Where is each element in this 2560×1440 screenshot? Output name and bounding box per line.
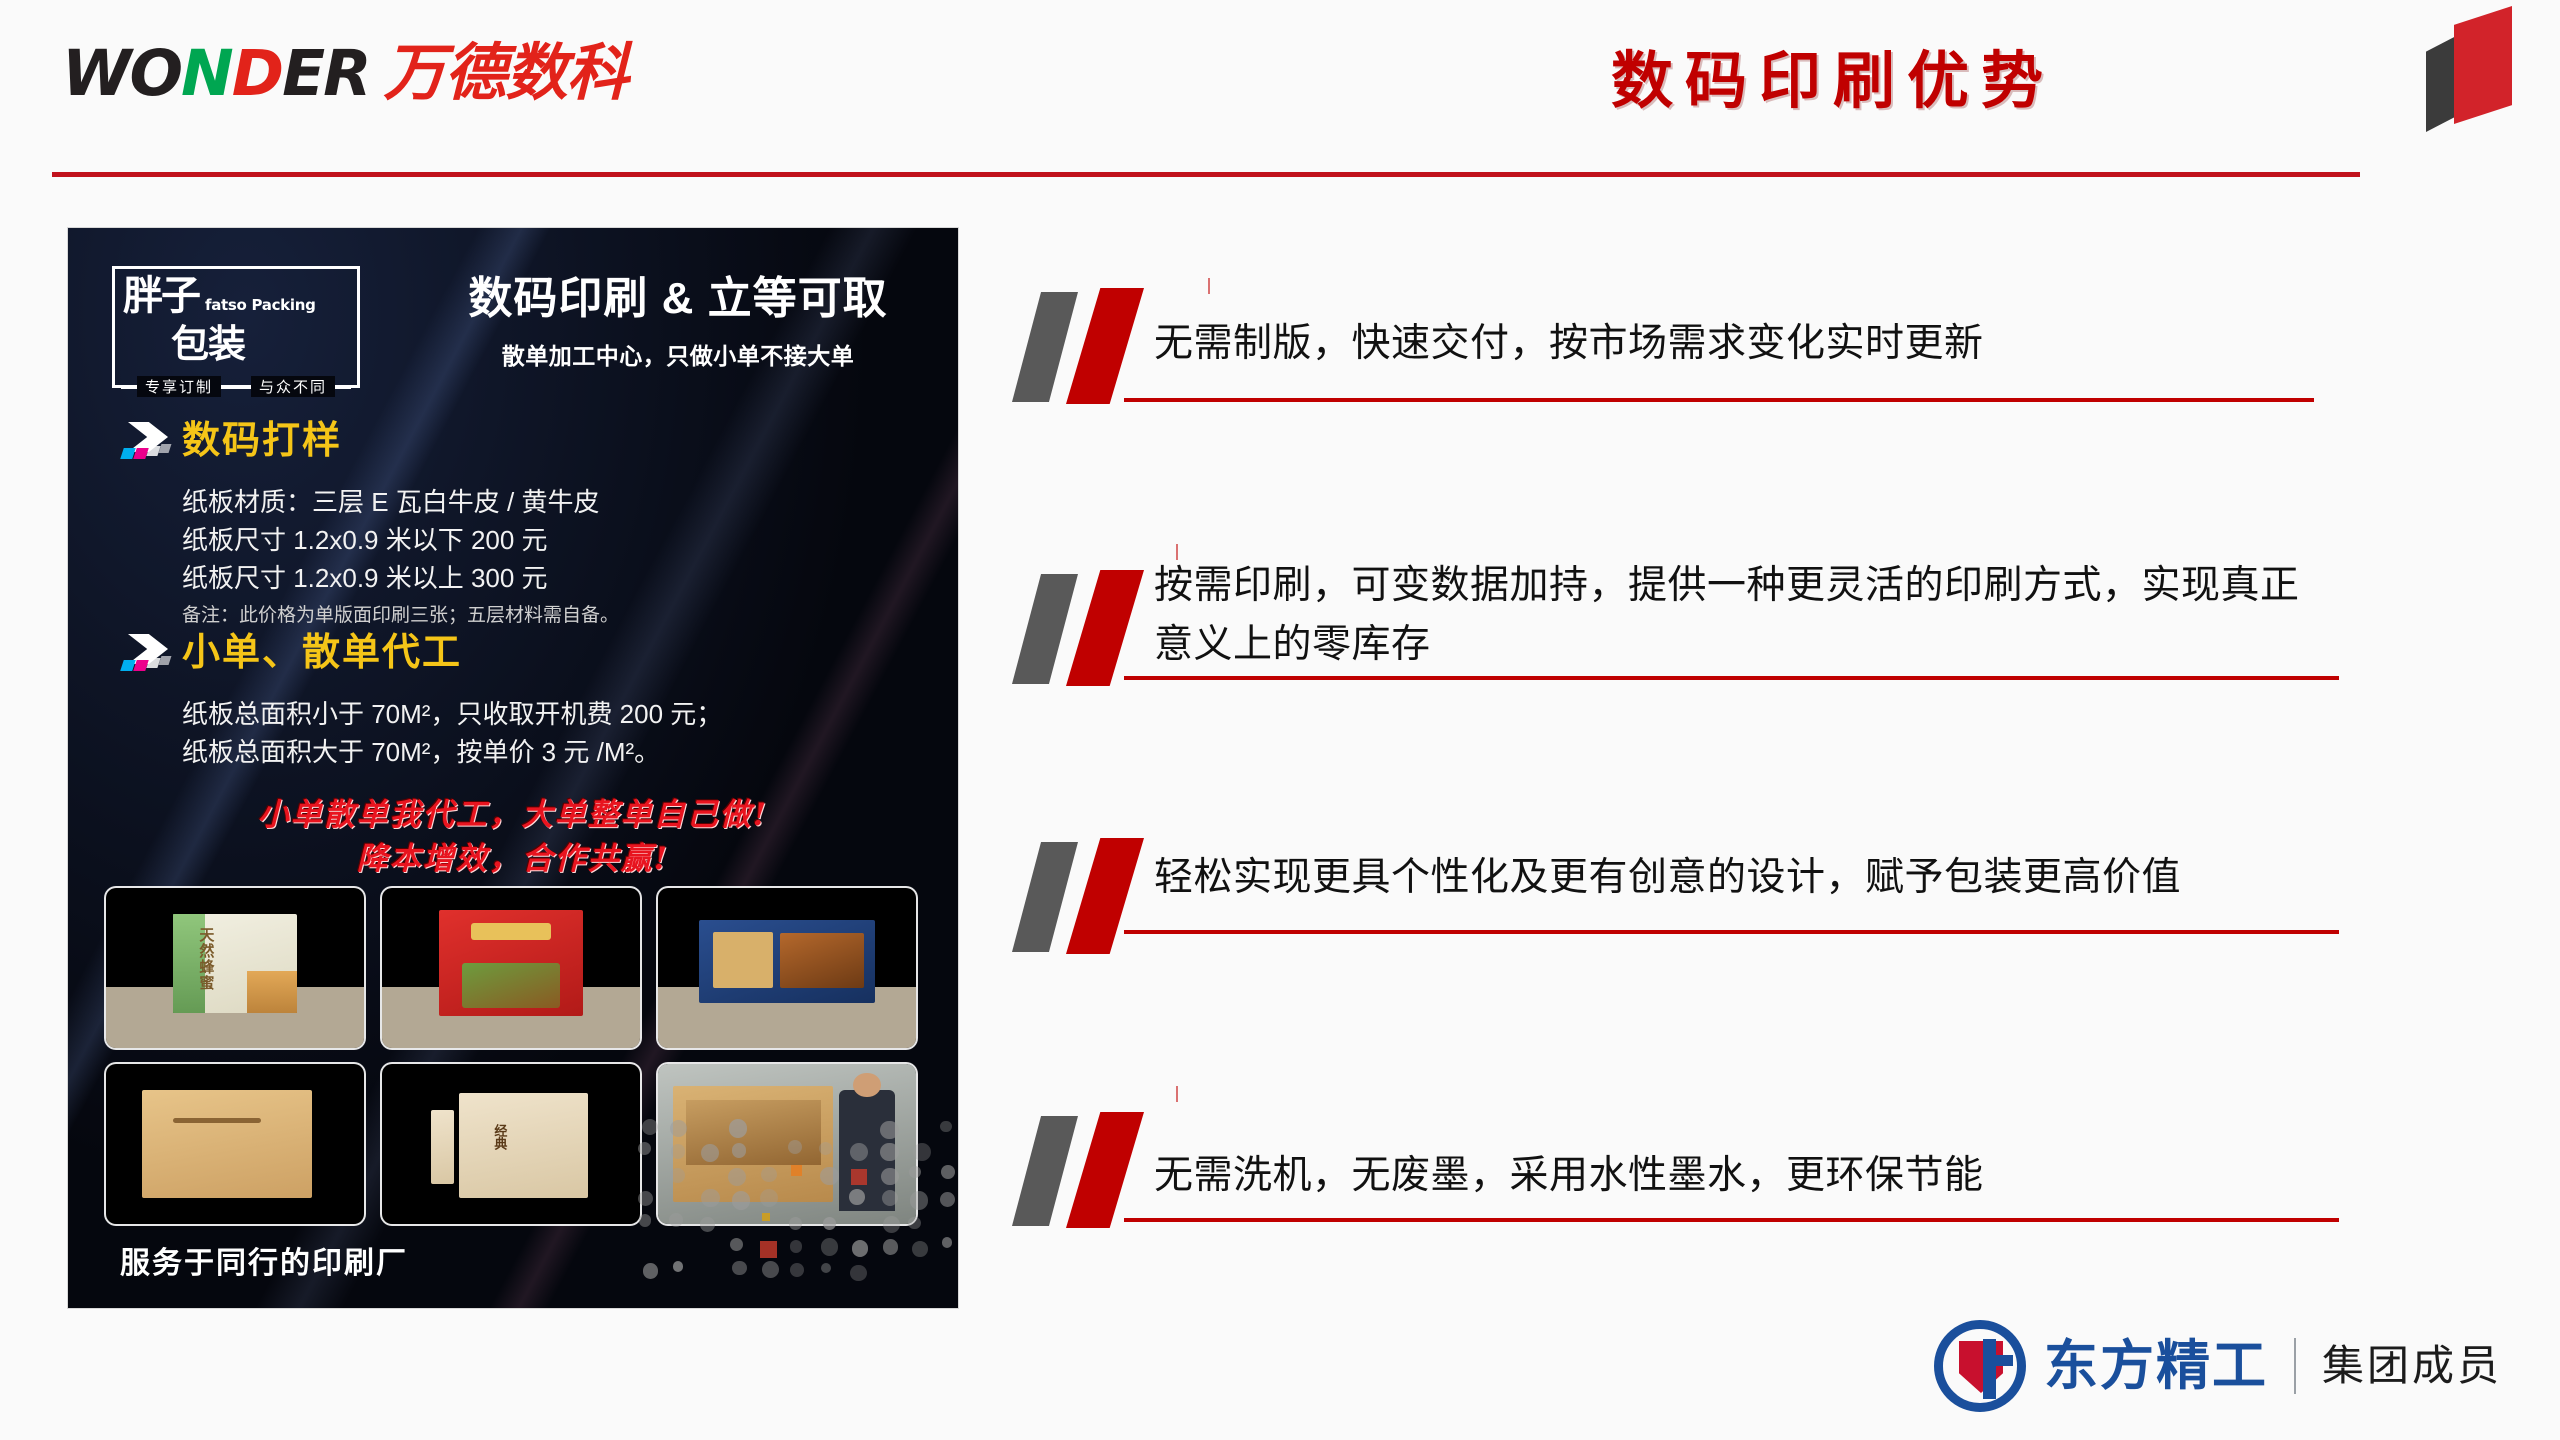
fatso-tag-left: 专享订制 bbox=[137, 376, 221, 397]
tick-mark bbox=[1208, 278, 1210, 294]
poster-slogan: 小单散单我代工，大单整单自己做! 降本增效，合作共赢! bbox=[68, 793, 958, 881]
footer-company-name: 东方精工 bbox=[2044, 1339, 2268, 1393]
corner-accent-red-shape bbox=[2454, 6, 2512, 124]
section-note: 备注：此价格为单版面印刷三张；五层材料需自备。 bbox=[182, 602, 930, 631]
wonder-brand-logo: WONDER 万德数科 bbox=[62, 42, 628, 104]
chevron-icon bbox=[120, 632, 182, 688]
product-photo bbox=[658, 888, 916, 1048]
poster-section-proofing: 数码打样 纸板材质：三层 E 瓦白牛皮 / 黄牛皮 纸板尺寸 1.2x0.9 米… bbox=[120, 418, 930, 630]
section-line: 纸板总面积小于 70M²，只收取开机费 200 元； bbox=[182, 696, 930, 734]
section-line: 纸板材质：三层 E 瓦白牛皮 / 黄牛皮 bbox=[182, 484, 930, 522]
dongfang-emblem-icon bbox=[1934, 1320, 2026, 1412]
poster-headline: 数码印刷 & 立等可取 bbox=[428, 274, 928, 325]
fatso-tag-right: 与众不同 bbox=[251, 376, 335, 397]
promo-poster-image: 胖子 fatso Packing 包装 专享订制 与众不同 数码印刷 & 立等可… bbox=[68, 228, 958, 1308]
product-photo-grid: 天然蜂蜜 经典 bbox=[106, 888, 916, 1224]
fatso-logo-english: fatso Packing bbox=[205, 298, 316, 313]
section-line: 纸板尺寸 1.2x0.9 米以上 300 元 bbox=[182, 560, 930, 598]
section-line: 纸板尺寸 1.2x0.9 米以下 200 元 bbox=[182, 522, 930, 560]
advantage-text: 无需制版，快速交付，按市场需求变化实时更新 bbox=[1154, 314, 2334, 373]
product-photo bbox=[658, 1064, 916, 1224]
wordmark-part-d: D bbox=[232, 42, 282, 105]
bullet-underline bbox=[1124, 398, 2314, 402]
poster-subheadline: 散单加工中心，只做小单不接大单 bbox=[428, 337, 928, 371]
poster-headline-group: 数码印刷 & 立等可取 散单加工中心，只做小单不接大单 bbox=[428, 274, 928, 371]
footer-member-label: 集团成员 bbox=[2322, 1345, 2502, 1387]
poster-section-small-orders: 小单、散单代工 纸板总面积小于 70M²，只收取开机费 200 元； 纸板总面积… bbox=[120, 630, 930, 772]
fatso-packing-logo: 胖子 fatso Packing 包装 专享订制 与众不同 bbox=[112, 266, 360, 388]
tick-mark bbox=[1176, 1086, 1178, 1102]
page-title: 数码印刷优势 bbox=[1611, 48, 2055, 116]
product-photo bbox=[106, 1064, 364, 1224]
fatso-logo-name: 胖子 bbox=[123, 277, 199, 315]
product-photo bbox=[382, 888, 640, 1048]
advantage-text: 按需印刷，可变数据加持，提供一种更灵活的印刷方式，实现真正意义上的零库存 bbox=[1154, 556, 2334, 675]
bullet-underline bbox=[1124, 930, 2339, 934]
wordmark-part-er: ER bbox=[282, 42, 370, 105]
poster-footer-text: 服务于同行的印刷厂 bbox=[120, 1238, 408, 1282]
section-title: 数码打样 bbox=[182, 422, 342, 460]
bullet-underline bbox=[1124, 1218, 2339, 1222]
slide-canvas: WONDER 万德数科 数码印刷优势 胖子 fatso Packing 包装 专… bbox=[0, 0, 2560, 1440]
product-photo: 天然蜂蜜 bbox=[106, 888, 364, 1048]
footer-divider bbox=[2294, 1338, 2296, 1394]
wordmark-part-wo: WO bbox=[62, 42, 181, 105]
chevron-icon bbox=[120, 420, 182, 476]
brand-chinese-name: 万德数科 bbox=[384, 42, 628, 104]
section-title: 小单、散单代工 bbox=[182, 634, 462, 672]
fatso-logo-taglines: 专享订制 与众不同 bbox=[115, 376, 357, 397]
wonder-wordmark: WONDER bbox=[62, 42, 370, 105]
advantage-text: 无需洗机，无废墨，采用水性墨水，更环保节能 bbox=[1154, 1146, 2334, 1205]
bullet-underline bbox=[1124, 676, 2339, 680]
slogan-line: 降本增效，合作共赢! bbox=[68, 837, 958, 881]
product-photo: 经典 bbox=[382, 1064, 640, 1224]
header-divider bbox=[52, 172, 2360, 177]
wordmark-part-n: N bbox=[181, 42, 232, 105]
group-member-footer-logo: 东方精工 集团成员 bbox=[1934, 1320, 2502, 1412]
fatso-logo-name2: 包装 bbox=[171, 313, 245, 368]
section-line: 纸板总面积大于 70M²，按单价 3 元 /M²。 bbox=[182, 734, 930, 772]
advantage-text: 轻松实现更具个性化及更有创意的设计，赋予包装更高价值 bbox=[1154, 848, 2344, 907]
corner-accent-icon bbox=[2426, 6, 2522, 132]
slogan-line: 小单散单我代工，大单整单自己做! bbox=[68, 793, 958, 837]
